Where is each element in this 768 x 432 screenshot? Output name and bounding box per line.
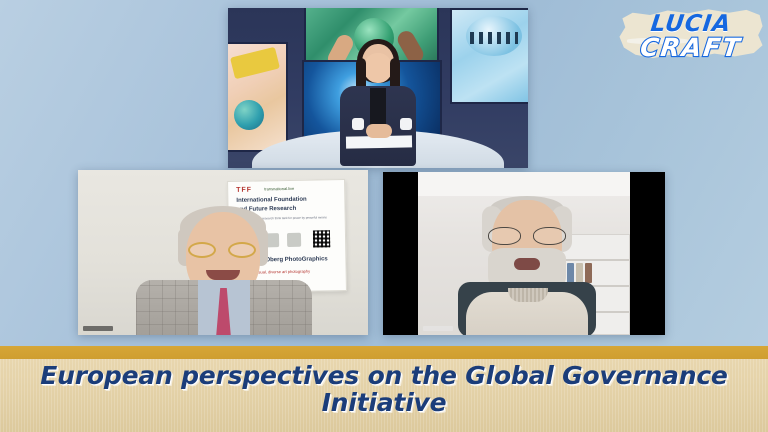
qr-code-icon (313, 230, 330, 247)
banner-gold-stripe (0, 346, 768, 359)
eyeglasses-icon (188, 242, 258, 258)
anchor-cuff-right (400, 118, 412, 130)
guest-left-room: TFF transnational.live International Fou… (78, 170, 368, 335)
lucia-craft-logo: LUCIA CRAFT (618, 6, 764, 62)
poster-logo-text: TFF (236, 187, 252, 194)
anchor-hands (366, 124, 392, 138)
screen-people-blue-globe (450, 8, 528, 104)
guest-right-mouth (514, 258, 540, 270)
guest-right-collar (508, 288, 548, 302)
anchor-face (364, 53, 392, 83)
video-tile-studio-anchor[interactable] (228, 8, 528, 168)
participant-name-label (83, 326, 113, 331)
studio-backdrop (228, 8, 528, 168)
banner-headline: European perspectives on the Global Gove… (0, 362, 768, 416)
logo-text-craft: CRAFT (616, 33, 766, 62)
participant-name-label (423, 326, 453, 331)
eyeglasses-icon (488, 227, 566, 245)
anchor-cuff-left (352, 118, 364, 130)
screen-hands-holding-globe (228, 42, 288, 152)
poster-line-1: International Foundation (236, 197, 306, 204)
guest-left-smile (206, 270, 240, 280)
yellow-sleeve-graphic (230, 47, 280, 79)
guest-right-person (452, 200, 602, 335)
broadcast-stage: TFF transnational.live International Fou… (0, 0, 768, 432)
poster-logo-sub: transnational.live (264, 186, 294, 192)
video-tile-guest-left[interactable]: TFF transnational.live International Fou… (78, 170, 368, 335)
video-tile-guest-right[interactable] (383, 172, 665, 335)
lower-third-banner: European perspectives on the Global Gove… (0, 346, 768, 432)
blue-globe-graphic (466, 16, 522, 56)
anchor-top (370, 88, 386, 128)
news-anchor (344, 44, 412, 168)
ceiling (418, 172, 630, 196)
guest-right-room (418, 172, 630, 335)
guest-left-person (136, 206, 312, 335)
